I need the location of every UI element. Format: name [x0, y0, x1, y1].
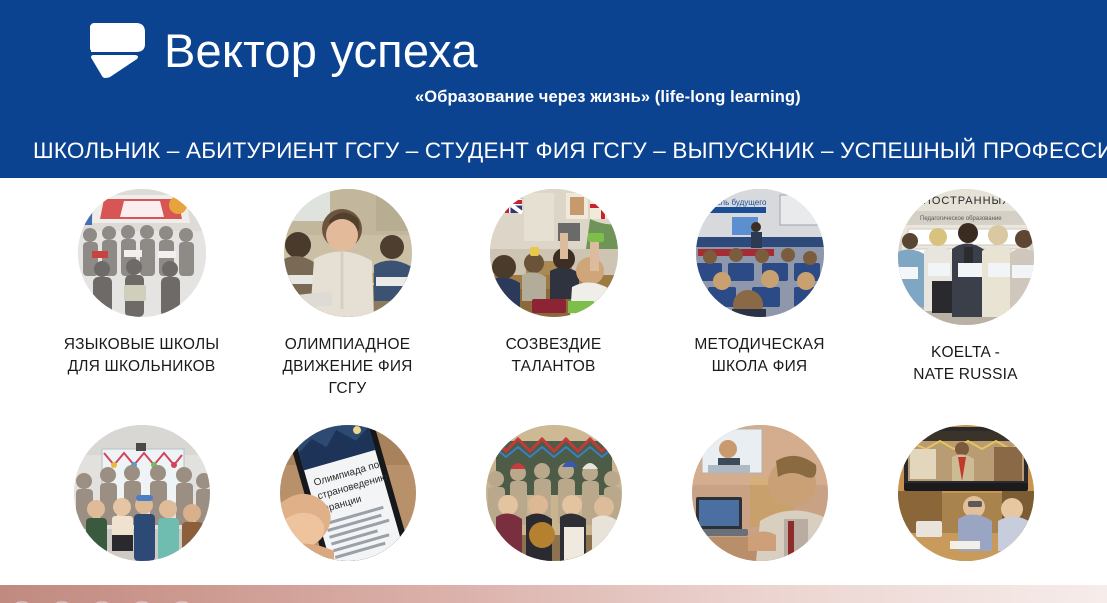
photo-certificate-ceremony: ИНОСТРАННЫХ Педагогическое образование	[898, 189, 1034, 325]
svg-text:Педагогическое образование: Педагогическое образование	[920, 216, 1002, 222]
photo-phone-announcement: Олимпиада по страноведению Франции	[280, 425, 416, 561]
svg-text:учитель будущего: учитель будущего	[700, 198, 767, 207]
photo-classroom-uk	[490, 189, 618, 317]
gallery-item-france-studies-olympiad[interactable]: Олимпиада по страноведению Франции	[247, 425, 449, 578]
gallery-item-caption: ОЛИМПИАДНОЕ ДВИЖЕНИЕ ФИЯ ГСГУ	[282, 334, 412, 400]
page-title: Вектор успеха	[164, 26, 478, 75]
gallery-item-language-schools[interactable]: ЯЗЫКОВЫЕ ШКОЛЫ ДЛЯ ШКОЛЬНИКОВ	[41, 189, 243, 400]
gallery-item-online-conference[interactable]	[659, 425, 861, 578]
brand-lockup: Вектор успеха	[88, 22, 478, 80]
footer-arc-pattern	[0, 591, 1107, 603]
svg-text:ИНОСТРАННЫХ: ИНОСТРАННЫХ	[914, 195, 1011, 207]
photo-video-meeting	[898, 425, 1034, 561]
career-pathway-bar: ШКОЛЬНИК – АБИТУРИЕНТ ГСГУ – СТУДЕНТ ФИЯ…	[0, 124, 1107, 178]
career-pathway-text: ШКОЛЬНИК – АБИТУРИЕНТ ГСГУ – СТУДЕНТ ФИЯ…	[0, 138, 1107, 164]
gallery-item-caption: СОЗВЕЗДИЕ ТАЛАНТОВ	[506, 334, 602, 378]
footer-gradient-band	[0, 585, 1107, 603]
photo-costume-festival	[486, 425, 622, 561]
header-tagline: «Образование через жизнь» (life-long lea…	[415, 88, 801, 107]
photo-group-students	[78, 189, 206, 317]
gallery-item-koelta-nate-russia[interactable]: ИНОСТРАННЫХ Педагогическое образование	[865, 189, 1067, 400]
presentation-slide: Вектор успеха «Образование через жизнь» …	[0, 0, 1107, 603]
photo-kids-celebration	[74, 425, 210, 561]
double-chevron-right-icon	[88, 22, 150, 80]
photo-online-conference	[692, 425, 828, 561]
gallery-item-constellation-of-talents[interactable]: СОЗВЕЗДИЕ ТАЛАНТОВ	[453, 189, 655, 400]
gallery-item-olympiad-movement[interactable]: ОЛИМПИАДНОЕ ДВИЖЕНИЕ ФИЯ ГСГУ	[247, 189, 449, 400]
photo-lecture-hall: учитель будущего	[696, 189, 824, 317]
gallery-item-kids-language-club[interactable]	[41, 425, 243, 578]
gallery-item-video-lecture[interactable]	[865, 425, 1067, 578]
gallery-row-2: Олимпиада по страноведению Франции	[0, 425, 1107, 578]
gallery-item-methodical-school[interactable]: учитель будущего	[659, 189, 861, 400]
program-gallery: ЯЗЫКОВЫЕ ШКОЛЫ ДЛЯ ШКОЛЬНИКОВ	[0, 181, 1107, 585]
gallery-item-caption: KOELTA - NATE RUSSIA	[913, 342, 1017, 386]
gallery-item-caption: ЯЗЫКОВЫЕ ШКОЛЫ ДЛЯ ШКОЛЬНИКОВ	[64, 334, 220, 378]
gallery-row-1: ЯЗЫКОВЫЕ ШКОЛЫ ДЛЯ ШКОЛЬНИКОВ	[0, 189, 1107, 400]
gallery-item-school-festival[interactable]	[453, 425, 655, 578]
slide-header: Вектор успеха «Образование через жизнь» …	[0, 0, 1107, 124]
photo-students-writing	[284, 189, 412, 317]
gallery-item-caption: МЕТОДИЧЕСКАЯ ШКОЛА ФИЯ	[694, 334, 824, 378]
